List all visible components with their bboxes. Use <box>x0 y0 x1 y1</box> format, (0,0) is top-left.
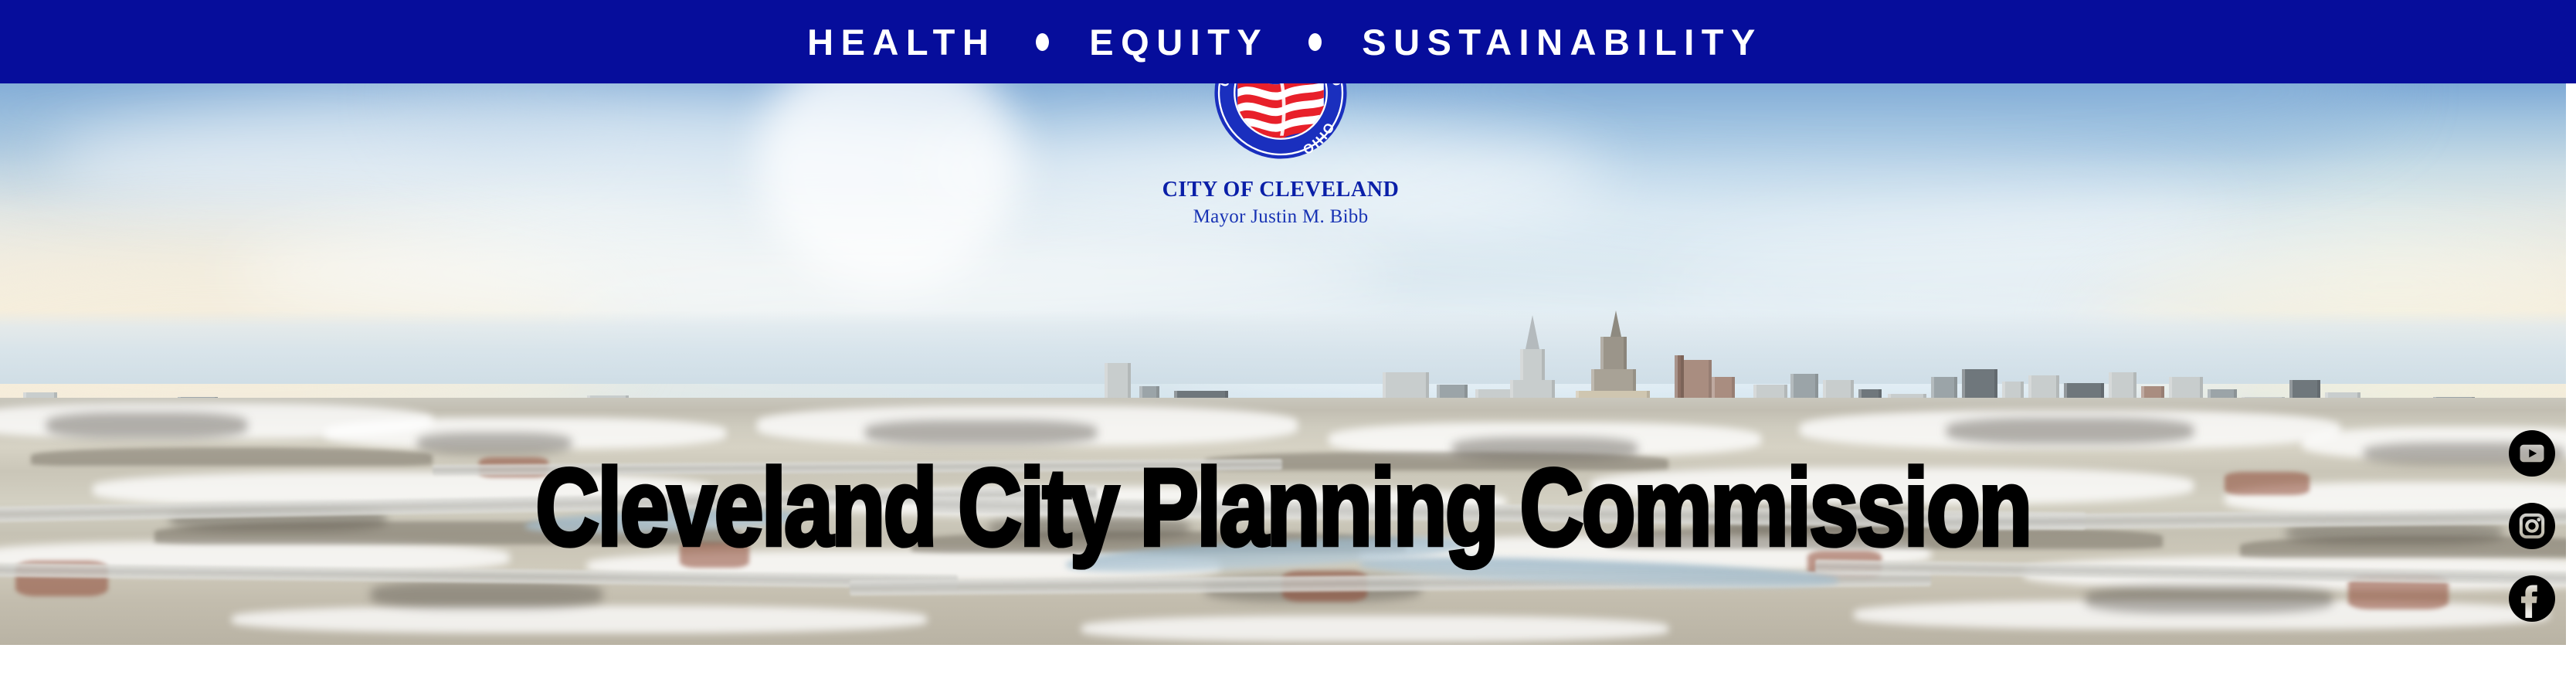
social-links-rail <box>2508 430 2556 622</box>
facebook-icon <box>2509 575 2555 622</box>
slogan-banner: HEALTH EQUITY SUSTAINABILITY <box>0 0 2576 83</box>
slogan-separator-dot-1 <box>1036 33 1049 51</box>
instagram-icon <box>2509 503 2555 549</box>
slogan-word-equity: EQUITY <box>1089 24 1268 60</box>
page-root: HEALTH EQUITY SUSTAINABILITY <box>0 0 2576 682</box>
city-name-label: CITY OF CLEVELAND <box>1162 178 1400 202</box>
bottom-white-strip <box>0 645 2576 682</box>
right-white-gutter <box>2566 83 2576 645</box>
youtube-icon <box>2509 430 2555 477</box>
page-title: Cleveland City Planning Commission <box>19 453 2547 562</box>
slogan-word-health: HEALTH <box>807 24 996 60</box>
slogan-separator-dot-2 <box>1308 33 1322 51</box>
slogan-banner-inner: HEALTH EQUITY SUSTAINABILITY <box>807 24 1763 60</box>
mayor-name-label: Mayor Justin M. Bibb <box>1193 206 1369 228</box>
slogan-word-sustainability: SUSTAINABILITY <box>1362 24 1763 60</box>
social-link-facebook[interactable] <box>2509 575 2555 622</box>
social-link-youtube[interactable] <box>2509 430 2555 477</box>
social-link-instagram[interactable] <box>2509 503 2555 549</box>
